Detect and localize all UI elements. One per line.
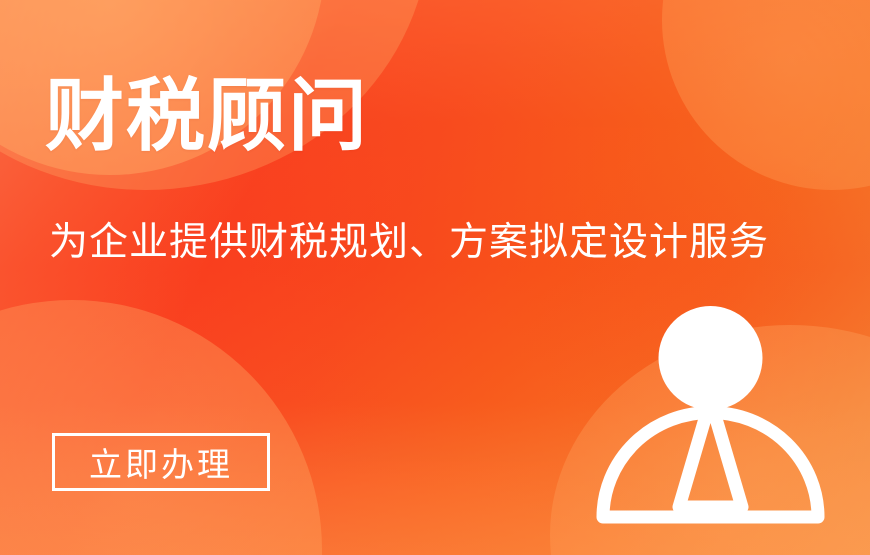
promo-banner: 财税顾问 为企业提供财税规划、方案拟定设计服务 立即办理 (0, 0, 870, 555)
banner-headline: 财税顾问 (45, 76, 369, 155)
banner-subheadline: 为企业提供财税规划、方案拟定设计服务 (49, 219, 769, 268)
person-advisor-icon (593, 305, 828, 530)
banner-content: 财税顾问 为企业提供财税规划、方案拟定设计服务 立即办理 (0, 0, 870, 555)
apply-now-button[interactable]: 立即办理 (52, 433, 270, 491)
